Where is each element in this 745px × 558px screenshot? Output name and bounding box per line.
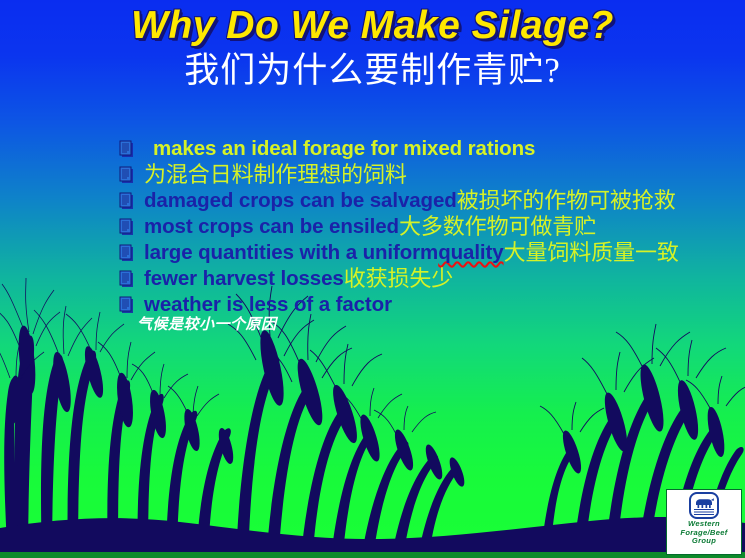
bullet-row: large quantities with a uniform quality … bbox=[118, 240, 743, 265]
page-subtitle-chinese: 我们为什么要制作青贮? bbox=[0, 50, 745, 92]
bullet-row: damaged crops can be salvaged 被损坏的作物可被抢救 bbox=[118, 188, 743, 213]
documents-icon bbox=[118, 138, 140, 160]
bottom-strip bbox=[0, 552, 745, 558]
bullet-text-cn: 为混合日料制作理想的饲料 bbox=[144, 162, 407, 187]
bullet-text-en: damaged crops can be salvaged bbox=[144, 188, 457, 213]
bullet-row: fewer harvest losses 收获损失少 bbox=[118, 266, 743, 291]
documents-icon bbox=[118, 216, 140, 238]
bullet-text-cn: 收获损失少 bbox=[344, 266, 454, 291]
presentation-slide: Why Do We Make Silage? 我们为什么要制作青贮? makes… bbox=[0, 0, 745, 558]
bullet-row: makes an ideal forage for mixed rations bbox=[118, 136, 743, 161]
bullet-text-en: most crops can be ensiled bbox=[144, 214, 399, 239]
documents-icon bbox=[118, 190, 140, 212]
documents-icon bbox=[118, 242, 140, 264]
bullet-text-cn: 被损坏的作物可被抢救 bbox=[457, 188, 676, 213]
documents-icon bbox=[118, 164, 140, 186]
bullet-row: most crops can be ensiled 大多数作物可做青贮 bbox=[118, 214, 743, 239]
bullet-text-en: makes an ideal forage for mixed rations bbox=[144, 136, 535, 161]
trailing-note-chinese: 气候是较小一个原因 bbox=[137, 313, 277, 334]
western-forage-beef-group-logo: Western Forage/Beef Group bbox=[666, 489, 742, 555]
bullet-text-en: fewer harvest losses bbox=[144, 266, 344, 291]
bullet-text-cn: 大多数作物可做青贮 bbox=[399, 214, 596, 239]
misspelled-word: quality bbox=[438, 240, 503, 265]
bullet-list: makes an ideal forage for mixed rations … bbox=[118, 136, 743, 318]
title-block: Why Do We Make Silage? 我们为什么要制作青贮? bbox=[0, 0, 745, 92]
ground-silhouette bbox=[0, 517, 745, 558]
cow-badge-icon bbox=[689, 492, 719, 519]
grass-cluster-rightcenter bbox=[330, 388, 467, 558]
page-title: Why Do We Make Silage? bbox=[0, 3, 745, 49]
grass-cluster-left bbox=[0, 278, 124, 558]
bullet-row: 为混合日料制作理想的饲料 bbox=[118, 162, 743, 187]
documents-icon bbox=[118, 268, 140, 290]
logo-line-3: Group bbox=[667, 537, 741, 546]
grass-cluster-midleft bbox=[98, 342, 235, 558]
logo-text: Western Forage/Beef Group bbox=[667, 520, 741, 546]
bullet-text-en: large quantities with a uniform bbox=[144, 240, 438, 265]
bullet-text-cn: 大量饲料质量一致 bbox=[504, 240, 679, 265]
